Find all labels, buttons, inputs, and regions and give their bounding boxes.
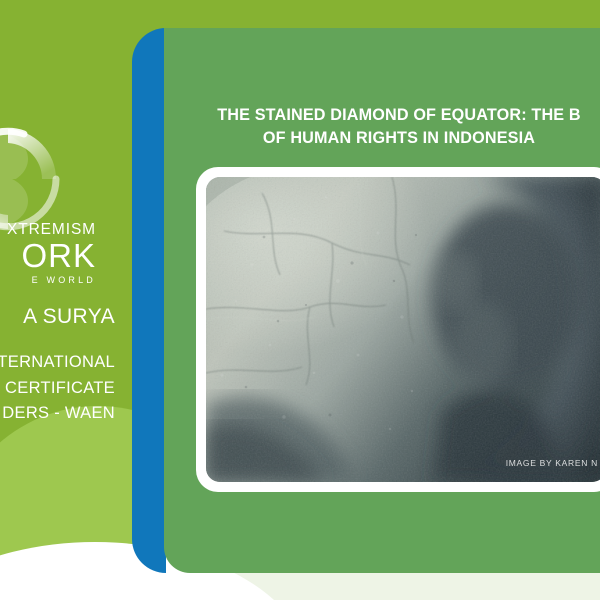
slide-title-line-1: THE STAINED DIAMOND OF EQUATOR: THE B (164, 104, 600, 127)
photo-frame: IMAGE BY KAREN N (196, 167, 600, 492)
presentation-slide: XTREMISM ORK E WORLD A SURYA TERNATIONAL… (0, 0, 600, 600)
logo-wordmark-tagline: E WORLD (0, 276, 96, 285)
slide-title: THE STAINED DIAMOND OF EQUATOR: THE B OF… (164, 104, 600, 150)
presenter-affiliation-line-1: TERNATIONAL (0, 350, 115, 376)
presenter-affiliation-line-3: DERS - WAEN (0, 401, 115, 427)
presenter-block: A SURYA TERNATIONAL CERTIFICATE DERS - W… (0, 305, 115, 427)
content-panel: THE STAINED DIAMOND OF EQUATOR: THE B OF… (164, 28, 600, 573)
logo-wordmark-line-2: ORK (0, 239, 96, 272)
presenter-affiliation: TERNATIONAL CERTIFICATE DERS - WAEN (0, 350, 115, 427)
statue-photo: IMAGE BY KAREN N (206, 177, 600, 482)
presenter-name: A SURYA (0, 305, 115, 328)
logo-wordmark-line-1: XTREMISM (0, 222, 96, 238)
logo-wordmark: XTREMISM ORK E WORLD (0, 222, 96, 285)
blue-accent-bar (132, 28, 166, 573)
presenter-affiliation-line-2: CERTIFICATE (0, 376, 115, 402)
globe-swirl-logo-icon (0, 125, 62, 233)
slide-title-line-2: OF HUMAN RIGHTS IN INDONESIA (164, 127, 600, 150)
photo-credit-caption: IMAGE BY KAREN N (506, 458, 598, 468)
